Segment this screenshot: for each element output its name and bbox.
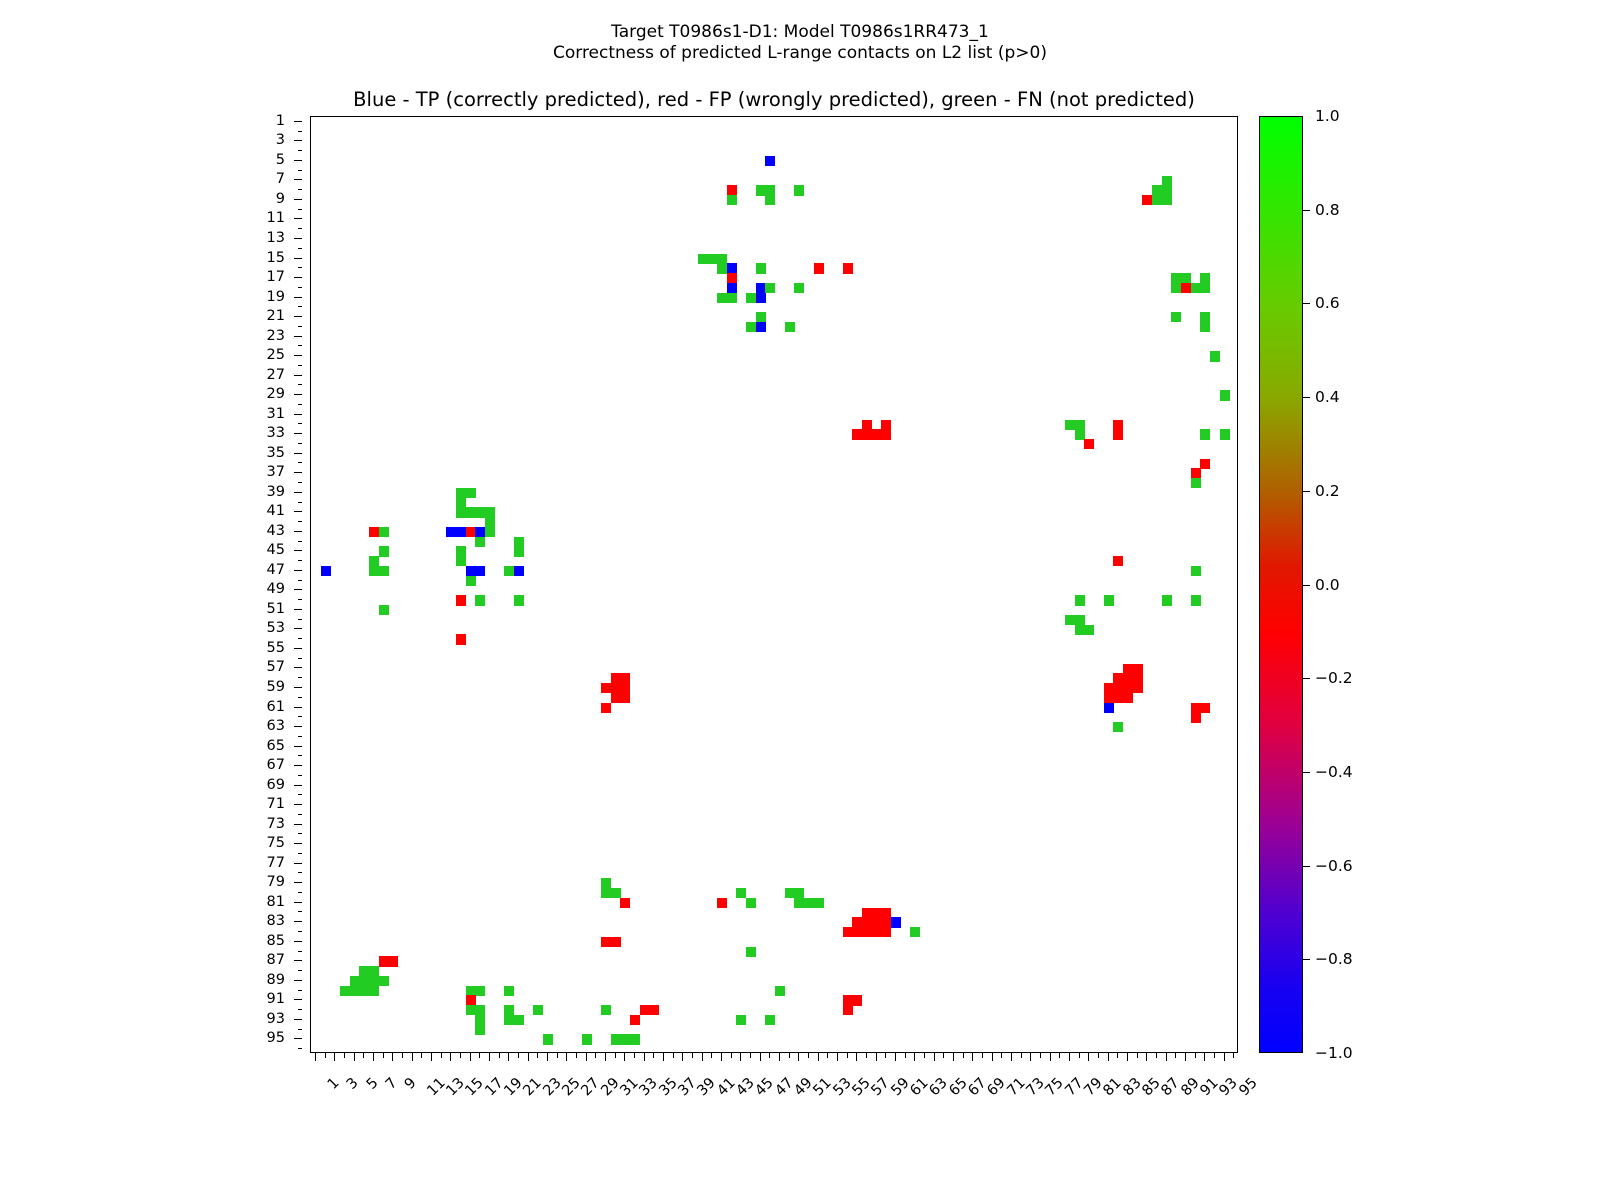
y-tick-mark [298, 384, 303, 385]
contact-cell-fp [1123, 683, 1133, 693]
contact-cell-fn [1171, 283, 1181, 293]
colorbar-tick-mark [1303, 397, 1310, 398]
y-tick-label: 39 [267, 484, 285, 500]
contact-cell-fn [456, 507, 466, 517]
x-tick-mark [711, 1053, 712, 1058]
y-tick-label: 33 [267, 425, 285, 441]
x-tick-mark [1021, 1053, 1022, 1058]
y-tick-mark [298, 697, 303, 698]
x-tick-mark [866, 1053, 867, 1058]
y-tick-label: 1 [276, 113, 285, 129]
y-tick-mark [294, 550, 302, 551]
colorbar-tick-label: −0.8 [1315, 950, 1353, 968]
colorbar-tick-label: −0.4 [1315, 763, 1353, 781]
contact-cell-fn [717, 254, 727, 264]
contact-cell-fn [456, 488, 466, 498]
contact-cell-fp [1084, 439, 1094, 449]
y-tick-mark [294, 804, 302, 805]
x-tick-mark [1117, 1053, 1118, 1058]
x-tick-mark [837, 1053, 838, 1061]
contact-cell-tp [446, 527, 456, 537]
x-tick-mark [789, 1053, 790, 1058]
contact-cell-fn [1191, 478, 1201, 488]
contact-cell-fn [756, 263, 766, 273]
y-tick-label: 67 [267, 757, 285, 773]
x-tick-mark [1195, 1053, 1196, 1058]
x-tick-mark [924, 1053, 925, 1058]
y-tick-label: 25 [267, 347, 285, 363]
x-tick-mark [441, 1053, 442, 1058]
y-tick-mark [294, 492, 302, 493]
y-tick-mark [294, 472, 302, 473]
contact-cell-fp [1200, 703, 1210, 713]
contact-cell-fn [359, 986, 369, 996]
contact-cell-fn [1065, 420, 1075, 430]
y-tick-mark [294, 258, 302, 259]
contact-cell-fp [852, 995, 862, 1005]
contact-cell-tp [727, 283, 737, 293]
contact-cell-fn [601, 888, 611, 898]
y-tick-mark [294, 297, 302, 298]
contact-cell-fn [765, 283, 775, 293]
y-tick-mark [294, 726, 302, 727]
x-tick-mark [412, 1053, 413, 1061]
y-tick-label: 21 [267, 308, 285, 324]
x-tick-mark [605, 1053, 606, 1061]
contact-cell-fn [582, 1034, 592, 1044]
contact-cell-fp [717, 898, 727, 908]
x-tick-mark [653, 1053, 654, 1058]
contact-cell-fn [1075, 625, 1085, 635]
x-tick-mark [982, 1053, 983, 1058]
y-tick-mark [298, 228, 303, 229]
x-tick-mark [402, 1053, 403, 1058]
x-tick-mark [489, 1053, 490, 1061]
x-tick-mark [1069, 1053, 1070, 1061]
y-tick-label: 5 [276, 152, 285, 168]
contact-cell-fn [630, 1034, 640, 1044]
contact-cell-tp [475, 527, 485, 537]
contact-cell-fn [1171, 312, 1181, 322]
contact-cell-fn [746, 293, 756, 303]
contact-cell-fn [456, 556, 466, 566]
contact-cell-fn [466, 576, 476, 586]
y-tick-label: 41 [267, 503, 285, 519]
x-tick-mark [1001, 1053, 1002, 1058]
x-tick-mark [682, 1053, 683, 1061]
x-tick-mark [876, 1053, 877, 1061]
x-tick-mark [1224, 1053, 1225, 1061]
y-tick-mark [294, 667, 302, 668]
y-tick-label: 29 [267, 386, 285, 402]
contact-cell-fp [601, 937, 611, 947]
x-tick-mark [847, 1053, 848, 1058]
y-tick-mark [294, 882, 302, 883]
y-tick-mark [298, 462, 303, 463]
contact-cell-fp [1133, 673, 1143, 683]
x-tick-mark [818, 1053, 819, 1061]
contact-cell-fn [485, 507, 495, 517]
x-tick-mark [1108, 1053, 1109, 1061]
contact-cell-fn [1075, 595, 1085, 605]
contact-cell-fn [379, 976, 389, 986]
contact-map-cells [311, 117, 1237, 1052]
contact-cell-fn [475, 986, 485, 996]
y-tick-mark [294, 863, 302, 864]
x-tick-mark [373, 1053, 374, 1061]
contact-cell-fn [756, 185, 766, 195]
chart-title-line-2: Correctness of predicted L-range contact… [0, 43, 1600, 64]
contact-cell-fn [785, 322, 795, 332]
colorbar-tick-label: 0.0 [1315, 576, 1340, 594]
contact-cell-tp [756, 283, 766, 293]
contact-cell-fp [852, 917, 862, 927]
x-tick-mark [315, 1053, 316, 1061]
x-tick-mark [479, 1053, 480, 1058]
y-tick-mark [298, 189, 303, 190]
contact-cell-fn [466, 507, 476, 517]
y-tick-mark [294, 902, 302, 903]
contact-cell-fn [475, 1015, 485, 1025]
x-tick-mark [992, 1053, 993, 1061]
x-tick-mark [972, 1053, 973, 1061]
y-tick-label: 51 [267, 601, 285, 617]
contact-cell-fn [466, 986, 476, 996]
y-tick-label: 17 [267, 269, 285, 285]
contact-cell-fn [475, 507, 485, 517]
contact-cell-fp [369, 527, 379, 537]
x-tick-mark [914, 1053, 915, 1061]
y-tick-label: 31 [267, 406, 285, 422]
x-tick-label: 3 [344, 1075, 362, 1093]
chart-legend-caption-text: Blue - TP (correctly predicted), red - F… [310, 88, 1238, 111]
colorbar-tick-label: −1.0 [1315, 1044, 1353, 1062]
y-tick-mark [294, 355, 302, 356]
x-tick-mark [1166, 1053, 1167, 1061]
y-tick-mark [298, 326, 303, 327]
contact-cell-fp [611, 693, 621, 703]
colorbar-tick-label: 0.6 [1315, 294, 1340, 312]
contact-cell-fp [620, 673, 630, 683]
y-tick-mark [298, 521, 303, 522]
chart-title-block: Target T0986s1-D1: Model T0986s1RR473_1 … [0, 22, 1600, 64]
contact-cell-fp [1123, 664, 1133, 674]
contact-cell-fp [1113, 429, 1123, 439]
x-tick-mark [354, 1053, 355, 1061]
contact-cell-fn [765, 185, 775, 195]
x-tick-mark [750, 1053, 751, 1058]
y-tick-mark [298, 716, 303, 717]
y-tick-mark [298, 404, 303, 405]
contact-cell-fn [601, 878, 611, 888]
contact-cell-fn [794, 283, 804, 293]
x-tick-mark [634, 1053, 635, 1058]
contact-cell-fn [1191, 566, 1201, 576]
colorbar-tick-label: 0.4 [1315, 388, 1340, 406]
x-tick-mark [1079, 1053, 1080, 1058]
contact-cell-fp [862, 429, 872, 439]
y-tick-mark [294, 843, 302, 844]
y-tick-label: 19 [267, 289, 285, 305]
y-tick-mark [298, 541, 303, 542]
contact-cell-fn [369, 566, 379, 576]
contact-cell-fn [698, 254, 708, 264]
x-tick-mark [344, 1053, 345, 1058]
colorbar-tick-label: −0.2 [1315, 669, 1353, 687]
contact-cell-fp [1181, 283, 1191, 293]
y-tick-mark [298, 638, 303, 639]
y-tick-label: 11 [267, 210, 285, 226]
contact-cell-fn [601, 1005, 611, 1015]
contact-cell-fn [611, 1034, 621, 1044]
y-tick-mark [294, 511, 302, 512]
contact-cell-fn [466, 1005, 476, 1015]
contact-cell-fp [881, 429, 891, 439]
y-tick-mark [298, 658, 303, 659]
contact-cell-fp [862, 917, 872, 927]
contact-cell-fp [1104, 693, 1114, 703]
y-tick-label: 71 [267, 796, 285, 812]
contact-cell-fn [1162, 195, 1172, 205]
y-tick-mark [294, 980, 302, 981]
contact-cell-fp [601, 683, 611, 693]
y-tick-label: 35 [267, 445, 285, 461]
y-tick-mark [298, 1029, 303, 1030]
y-tick-label: 23 [267, 328, 285, 344]
contact-cell-fn [543, 1034, 553, 1044]
contact-cell-fp [881, 908, 891, 918]
y-tick-mark [298, 599, 303, 600]
x-tick-mark [1050, 1053, 1051, 1061]
contact-cell-fn [1220, 429, 1230, 439]
x-tick-mark [383, 1053, 384, 1058]
contact-cell-fn [379, 546, 389, 556]
x-tick-mark [392, 1053, 393, 1061]
x-tick-mark [740, 1053, 741, 1061]
y-tick-label: 59 [267, 679, 285, 695]
contact-cell-fp [640, 1005, 650, 1015]
contact-cell-tp [1104, 703, 1114, 713]
contact-cell-fn [746, 898, 756, 908]
x-tick-mark [615, 1053, 616, 1058]
contact-cell-fn [794, 898, 804, 908]
y-tick-mark [294, 570, 302, 571]
x-axis: 1357911131517192123252729313335373941434… [310, 1053, 1239, 1193]
y-tick-label: 91 [267, 991, 285, 1007]
colorbar-tick-label: 0.8 [1315, 201, 1340, 219]
contact-cell-fp [872, 917, 882, 927]
y-tick-label: 7 [276, 171, 285, 187]
contact-cell-fn [1075, 420, 1085, 430]
x-tick-mark [450, 1053, 451, 1061]
contact-cell-fn [504, 1005, 514, 1015]
y-tick-mark [294, 707, 302, 708]
x-tick-mark [1156, 1053, 1157, 1058]
y-tick-mark [294, 375, 302, 376]
contact-cell-fp [466, 527, 476, 537]
x-tick-mark [798, 1053, 799, 1061]
x-tick-mark [547, 1053, 548, 1061]
y-tick-mark [298, 619, 303, 620]
contact-cell-fp [611, 937, 621, 947]
y-tick-mark [294, 687, 302, 688]
contact-cell-fn [1075, 429, 1085, 439]
contact-cell-fn [379, 605, 389, 615]
x-tick-mark [953, 1053, 954, 1061]
x-tick-mark [1204, 1053, 1205, 1061]
contact-cell-fn [350, 976, 360, 986]
contact-map-plot-area [310, 116, 1238, 1053]
y-tick-label: 93 [267, 1011, 285, 1027]
contact-cell-fp [862, 908, 872, 918]
y-tick-label: 57 [267, 659, 285, 675]
colorbar-tick-mark [1303, 959, 1310, 960]
y-tick-mark [298, 775, 303, 776]
x-tick-mark [528, 1053, 529, 1061]
contact-cell-fn [514, 546, 524, 556]
x-tick-mark [943, 1053, 944, 1058]
contact-cell-fp [727, 273, 737, 283]
contact-cell-fp [456, 595, 466, 605]
contact-cell-fp [1133, 683, 1143, 693]
y-tick-mark [298, 170, 303, 171]
colorbar-gradient [1259, 116, 1303, 1053]
contact-cell-fp [1191, 712, 1201, 722]
y-tick-mark [294, 160, 302, 161]
contact-cell-fn [504, 1015, 514, 1025]
y-tick-label: 27 [267, 367, 285, 383]
contact-cell-fp [466, 995, 476, 1005]
x-tick-label: 95 [1236, 1075, 1260, 1099]
contact-cell-fn [533, 1005, 543, 1015]
contact-cell-fn [717, 263, 727, 273]
contact-cell-fp [611, 673, 621, 683]
x-tick-mark [460, 1053, 461, 1058]
y-tick-mark [298, 1009, 303, 1010]
contact-cell-fn [1152, 185, 1162, 195]
contact-cell-fn [1171, 273, 1181, 283]
x-tick-mark [1059, 1053, 1060, 1058]
y-tick-mark [294, 1019, 302, 1020]
y-tick-mark [294, 218, 302, 219]
x-tick-mark [644, 1053, 645, 1061]
colorbar-tick-mark [1303, 303, 1310, 304]
y-tick-mark [298, 209, 303, 210]
y-tick-mark [294, 960, 302, 961]
contact-cell-fn [746, 947, 756, 957]
y-tick-mark [298, 150, 303, 151]
x-tick-mark [885, 1053, 886, 1058]
x-tick-mark [760, 1053, 761, 1061]
y-tick-label: 37 [267, 464, 285, 480]
y-tick-label: 69 [267, 777, 285, 793]
contact-cell-tp [756, 293, 766, 303]
x-tick-mark [1175, 1053, 1176, 1058]
contact-cell-fn [1113, 722, 1123, 732]
y-tick-label: 83 [267, 913, 285, 929]
y-tick-mark [298, 872, 303, 873]
x-tick-label: 5 [363, 1075, 381, 1093]
contact-cell-fn [1210, 351, 1220, 361]
contact-cell-fn [756, 312, 766, 322]
contact-cell-fn [379, 527, 389, 537]
y-tick-mark [294, 609, 302, 610]
x-tick-mark [1011, 1053, 1012, 1061]
contact-cell-fp [620, 683, 630, 693]
contact-cell-tp [514, 566, 524, 576]
y-tick-label: 55 [267, 640, 285, 656]
contact-cell-fn [736, 888, 746, 898]
y-tick-mark [294, 1038, 302, 1039]
contact-cell-fn [379, 566, 389, 576]
y-tick-mark [298, 502, 303, 503]
contact-cell-tp [456, 527, 466, 537]
y-tick-mark [294, 433, 302, 434]
contact-cell-fn [765, 195, 775, 205]
y-tick-mark [294, 628, 302, 629]
x-tick-mark [731, 1053, 732, 1058]
y-tick-mark [298, 248, 303, 249]
contact-cell-fp [601, 703, 611, 713]
contact-cell-fn [514, 537, 524, 547]
contact-cell-fp [379, 956, 389, 966]
contact-cell-fn [727, 195, 737, 205]
colorbar-tick-mark [1303, 678, 1310, 679]
contact-cell-tp [765, 156, 775, 166]
contact-cell-fp [1113, 420, 1123, 430]
y-tick-mark [298, 560, 303, 561]
x-tick-mark [856, 1053, 857, 1061]
y-tick-label: 49 [267, 581, 285, 597]
contact-cell-fp [814, 263, 824, 273]
contact-cell-fp [1113, 556, 1123, 566]
x-tick-mark [576, 1053, 577, 1058]
y-tick-label: 61 [267, 699, 285, 715]
y-tick-label: 85 [267, 933, 285, 949]
x-tick-mark [1098, 1053, 1099, 1058]
contact-cell-fp [862, 927, 872, 937]
y-tick-mark [298, 580, 303, 581]
x-tick-mark [779, 1053, 780, 1061]
y-tick-mark [298, 794, 303, 795]
y-tick-label: 13 [267, 230, 285, 246]
x-tick-mark [663, 1053, 664, 1061]
contact-cell-fp [1104, 683, 1114, 693]
contact-cell-fn [475, 1025, 485, 1035]
colorbar-tick-label: −0.6 [1315, 857, 1353, 875]
contact-cell-fn [1084, 625, 1094, 635]
contact-cell-fp [843, 927, 853, 937]
contact-cell-fp [852, 429, 862, 439]
chart-legend-caption: Blue - TP (correctly predicted), red - F… [310, 88, 1238, 111]
x-tick-mark [421, 1053, 422, 1058]
y-tick-mark [298, 443, 303, 444]
y-tick-label: 53 [267, 620, 285, 636]
contact-cell-fn [746, 322, 756, 332]
contact-cell-fp [611, 683, 621, 693]
contact-cell-fp [1191, 468, 1201, 478]
x-tick-label: 9 [402, 1075, 420, 1093]
contact-cell-fp [843, 1005, 853, 1015]
x-tick-mark [1233, 1053, 1234, 1058]
contact-cell-fn [717, 293, 727, 303]
contact-cell-fp [1133, 664, 1143, 674]
contact-cell-fn [1200, 322, 1210, 332]
contact-cell-tp [756, 322, 766, 332]
y-tick-mark [294, 589, 302, 590]
y-tick-label: 3 [276, 132, 285, 148]
contact-cell-fp [872, 429, 882, 439]
